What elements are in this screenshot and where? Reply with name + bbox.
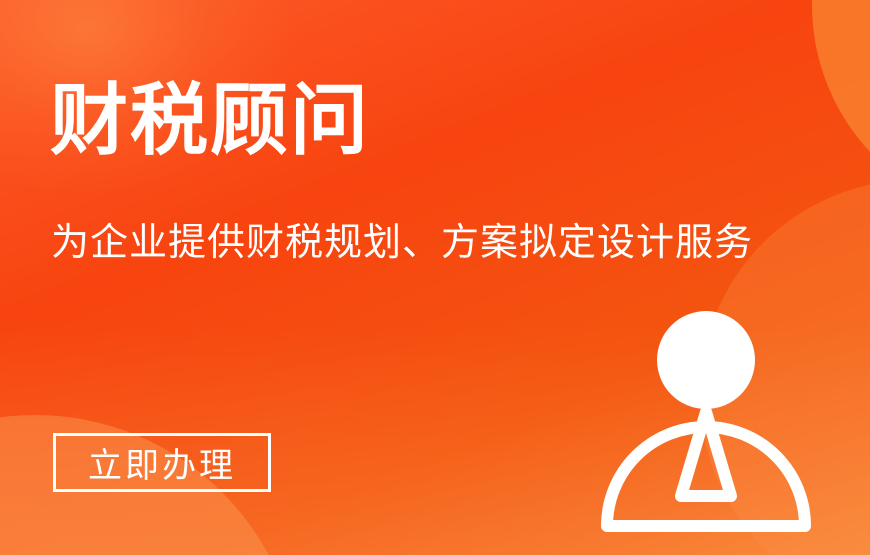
person-advisor-icon <box>590 300 830 540</box>
person-advisor-icon-svg <box>590 300 830 540</box>
apply-now-button[interactable]: 立即办理 <box>53 433 271 492</box>
person-body-shape <box>607 427 805 526</box>
promo-banner: 财税顾问 为企业提供财税规划、方案拟定设计服务 立即办理 <box>0 0 870 555</box>
banner-content: 财税顾问 为企业提供财税规划、方案拟定设计服务 立即办理 <box>0 0 870 555</box>
person-head-shape <box>657 311 755 409</box>
banner-subheadline: 为企业提供财税规划、方案拟定设计服务 <box>51 220 753 268</box>
banner-headline: 财税顾问 <box>50 80 370 162</box>
